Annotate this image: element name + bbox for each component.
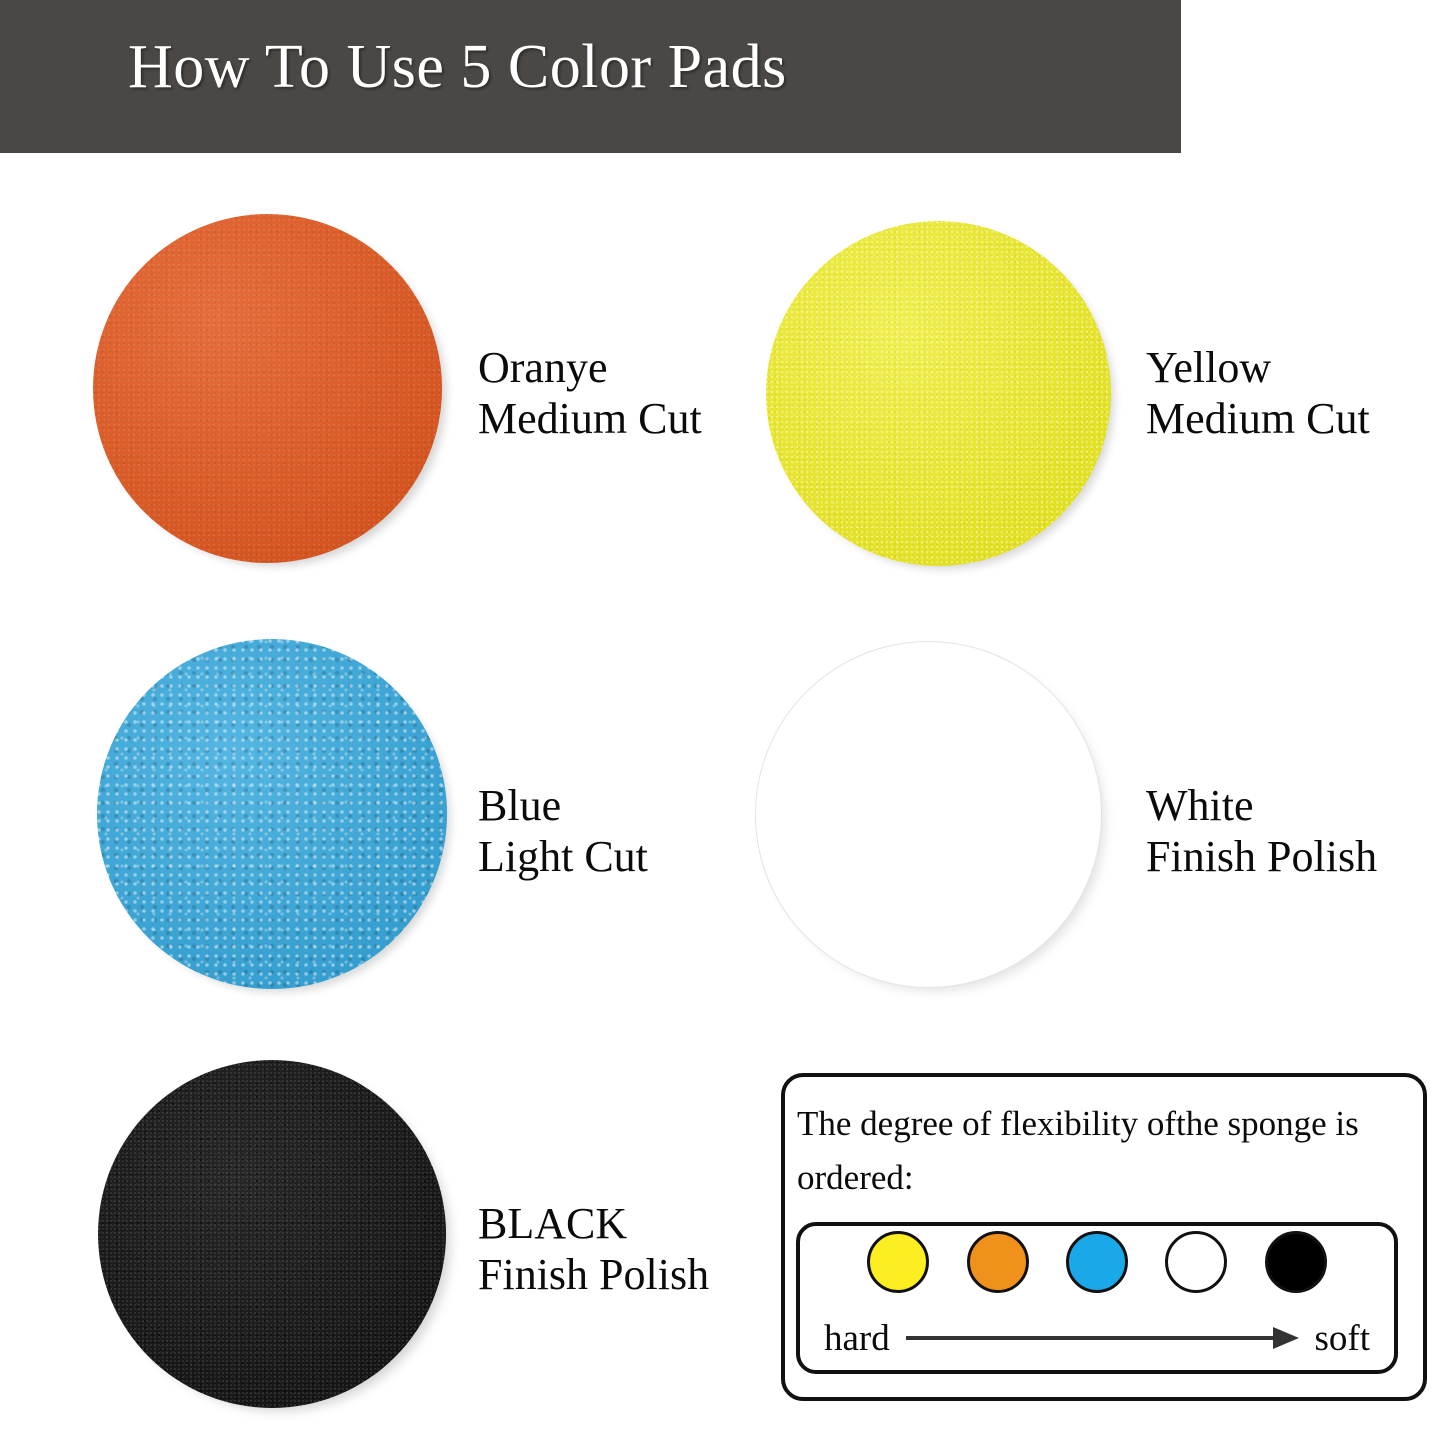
pad-label-orange-cut: Medium Cut [478, 393, 702, 444]
right-arrow-icon [906, 1336, 1299, 1340]
pad-label-yellow: Yellow Medium Cut [1146, 342, 1370, 444]
legend-description-line-2: ordered: [797, 1151, 1403, 1205]
scale-label-soft: soft [1315, 1320, 1371, 1357]
pad-swatch-blue [97, 639, 447, 989]
infographic-page: How To Use 5 Color Pads Oranye Medium Cu… [0, 0, 1445, 1445]
pad-label-blue: Blue Light Cut [478, 780, 648, 882]
flexibility-dot-row [796, 1222, 1398, 1302]
pad-label-orange: Oranye Medium Cut [478, 342, 702, 444]
legend-description-line-1: The degree of flexibility ofthe sponge i… [797, 1097, 1403, 1151]
pad-label-blue-cut: Light Cut [478, 831, 648, 882]
black-dot-icon [1265, 1231, 1327, 1293]
pad-label-blue-color: Blue [478, 780, 648, 831]
pad-label-white-cut: Finish Polish [1146, 831, 1377, 882]
scale-label-hard: hard [824, 1320, 890, 1357]
pad-swatch-white [755, 641, 1102, 988]
page-title: How To Use 5 Color Pads [128, 36, 787, 98]
white-dot-icon [1165, 1231, 1227, 1293]
pad-label-yellow-cut: Medium Cut [1146, 393, 1370, 444]
pad-label-white-color: White [1146, 780, 1377, 831]
pad-label-orange-color: Oranye [478, 342, 702, 393]
pad-label-white: White Finish Polish [1146, 780, 1377, 882]
flexibility-scale-row: hard soft [796, 1302, 1398, 1374]
pad-label-black-cut: Finish Polish [478, 1249, 709, 1300]
pad-label-black: BLACK Finish Polish [478, 1198, 709, 1300]
orange-dot-icon [967, 1231, 1029, 1293]
pad-swatch-black [98, 1060, 446, 1408]
pad-label-black-color: BLACK [478, 1198, 709, 1249]
pad-swatch-orange [93, 214, 442, 563]
blue-dot-icon [1066, 1231, 1128, 1293]
pad-swatch-yellow [766, 221, 1111, 566]
flexibility-legend-description: The degree of flexibility ofthe sponge i… [797, 1097, 1403, 1205]
yellow-dot-icon [867, 1231, 929, 1293]
pad-label-yellow-color: Yellow [1146, 342, 1370, 393]
